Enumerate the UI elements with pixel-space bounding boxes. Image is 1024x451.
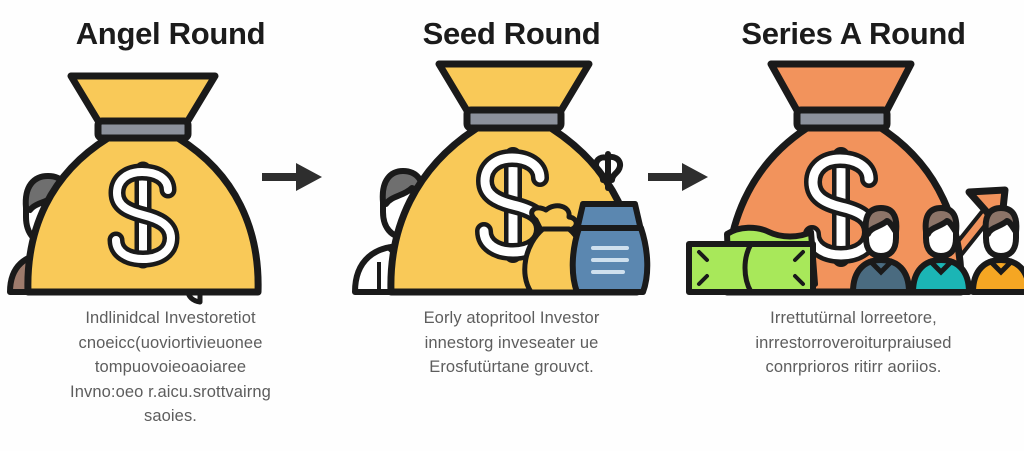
column-angel-round: Angel Round — [0, 0, 341, 451]
caption-line: cnoeicc(uoviortivieuonee — [8, 331, 333, 356]
caption-line: Indlinidcal Investoretiot — [8, 306, 333, 331]
cash-stack-green-icon — [689, 228, 815, 292]
dollar-sign-glyph — [812, 156, 871, 258]
column-seed-round: Seed Round — [341, 0, 682, 451]
caption-line: Irrettutürnal lorreetore, — [691, 306, 1016, 331]
caption-line: Invno:oeo r.aicu.srottvairng — [8, 380, 333, 405]
caption-line: Erosfutürtane grouvct. — [349, 355, 674, 380]
caption-line: saoies. — [8, 404, 333, 429]
page-title-seed-round: Seed Round — [341, 16, 682, 52]
caption-line: innestorg inveseater ue — [349, 331, 674, 356]
page-title-angel-round: Angel Round — [0, 16, 341, 52]
column-series-a-round: Series A Round — [683, 0, 1024, 451]
illustration-series-a-round — [683, 62, 1024, 292]
caption-line: conrprioros ritirr aoriios. — [691, 355, 1016, 380]
money-bag-yellow-icon — [28, 76, 258, 292]
arrow-angel-to-seed-icon — [262, 160, 324, 194]
dollar-sign-glyph — [116, 170, 171, 260]
caption-line: inrrestorroveroiturpraiused — [691, 331, 1016, 356]
caption-line: tompuovoieoaoiaree — [8, 355, 333, 380]
caption-seed-round: Eorly atopritool Investor innestorg inve… — [349, 306, 674, 380]
caption-line: Eorly atopritool Investor — [349, 306, 674, 331]
funding-rounds-infographic: Angel Round — [0, 0, 1024, 451]
page-title-series-a-round: Series A Round — [683, 16, 1024, 52]
illustration-seed-round — [341, 62, 682, 292]
caption-angel-round: Indlinidcal Investoretiot cnoeicc(uovior… — [8, 306, 333, 429]
caption-series-a-round: Irrettutürnal lorreetore, inrrestorrover… — [691, 306, 1016, 380]
people-group-three-icon — [853, 208, 1024, 292]
